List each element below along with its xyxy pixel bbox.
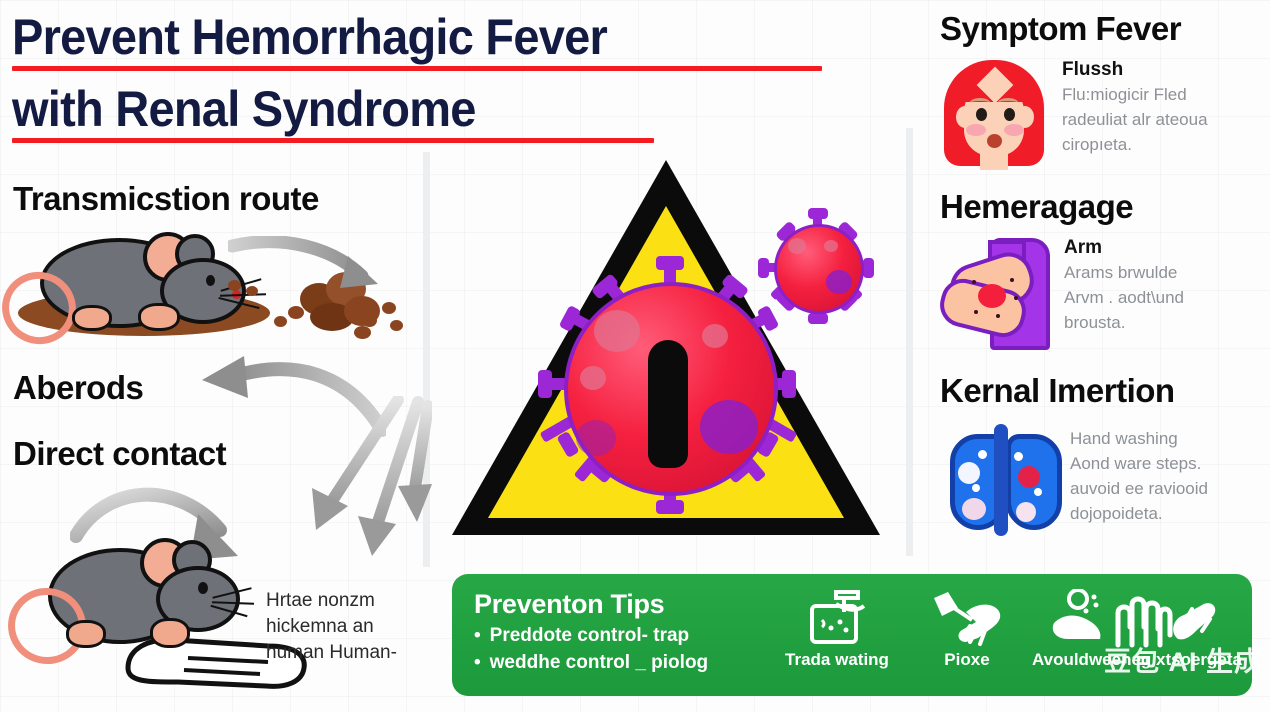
- symptom-fever-subheading: Flussh: [1062, 58, 1262, 82]
- title-line-1: Prevent Hemorrhagic Fever: [12, 4, 792, 70]
- hemorrhage-line-2: Arvm . aodt\und: [1064, 285, 1264, 310]
- hemorrhage-text: Arm Arams brwulde Arvm . aodt\und broust…: [1064, 236, 1264, 335]
- prevention-icon-cell-water: Trada wating: [772, 588, 902, 670]
- note-line-2: hickemna an: [266, 614, 436, 640]
- exclamation-bar: [648, 340, 688, 468]
- prevention-caption-water: Trada wating: [785, 650, 889, 670]
- heading-renal-infection: Kernal Imertion: [940, 372, 1175, 410]
- direct-contact-note: Hrtae nonzm hickemna an human Human-: [266, 588, 436, 666]
- heading-hemorrhage: Hemeragage: [940, 188, 1133, 226]
- heading-aerosol: Aberods: [13, 369, 143, 407]
- divider-right: [906, 128, 913, 556]
- hemorrhage-subheading: Arm: [1064, 236, 1264, 260]
- heading-symptom-fever: Symptom Fever: [940, 10, 1181, 48]
- prevention-tips-title: Preventon Tips: [474, 586, 774, 622]
- hemorrhage-line-3: brousta.: [1064, 310, 1264, 335]
- hemorrhage-item: Arm Arams brwulde Arvm . aodt\und broust…: [940, 236, 1264, 344]
- virus-particle-small-icon: [768, 218, 864, 314]
- symptom-fever-line-3: ciropıeta.: [1062, 132, 1262, 157]
- renal-line-3: auvoid ee raviooid: [1070, 476, 1270, 501]
- aerosol-streaks-icon: [272, 396, 432, 576]
- note-line-3: human Human-: [266, 640, 436, 666]
- prevention-tips-text: Preventon Tips Preddote control- trap we…: [474, 586, 774, 676]
- symptom-fever-line-1: Flu:miogicir Fled: [1062, 82, 1262, 107]
- curved-arrow-icon: [228, 236, 398, 306]
- renal-infection-text: Hand washing Aond ware steps. auvoid ee …: [1070, 422, 1270, 526]
- symptom-fever-text: Flussh Flu:miogicir Fled radeuliat alr a…: [1062, 58, 1262, 157]
- water-container-icon: [806, 588, 868, 650]
- ai-watermark: 豆包 AI 生成: [1104, 640, 1262, 679]
- prevention-tip-2: weddhe control _ piolog: [474, 649, 774, 676]
- renal-line-1: Hand washing: [1070, 426, 1270, 451]
- renal-line-4: dojopoideta.: [1070, 501, 1270, 526]
- hemorrhage-line-1: Arams brwulde: [1064, 260, 1264, 285]
- symptom-fever-line-2: radeuliat alr ateoua: [1062, 107, 1262, 132]
- poster-title-block: Prevent Hemorrhagic Fever with Renal Syn…: [12, 4, 842, 148]
- heading-direct-contact: Direct contact: [13, 435, 226, 473]
- prevention-caption-spray: Pioxe: [944, 650, 989, 670]
- kidney-icon: [948, 422, 1056, 538]
- flushed-face-icon: [940, 58, 1048, 170]
- renal-line-2: Aond ware steps.: [1070, 451, 1270, 476]
- heading-transmission-route: Transmicstion route: [13, 180, 319, 218]
- infographic-poster: Prevent Hemorrhagic Fever with Renal Syn…: [0, 0, 1270, 712]
- title-line-2: with Renal Syndrome: [12, 76, 792, 142]
- note-line-1: Hrtae nonzm: [266, 588, 436, 614]
- spray-disinfect-icon: [932, 588, 1002, 650]
- symptom-fever-item: Flussh Flu:miogicir Fled radeuliat alr a…: [940, 58, 1262, 170]
- arm-rash-icon: [940, 236, 1050, 344]
- prevention-icon-cell-spray: Pioxe: [902, 588, 1032, 670]
- renal-infection-item: Hand washing Aond ware steps. auvoid ee …: [948, 422, 1270, 538]
- prevention-tip-1: Preddote control- trap: [474, 622, 774, 649]
